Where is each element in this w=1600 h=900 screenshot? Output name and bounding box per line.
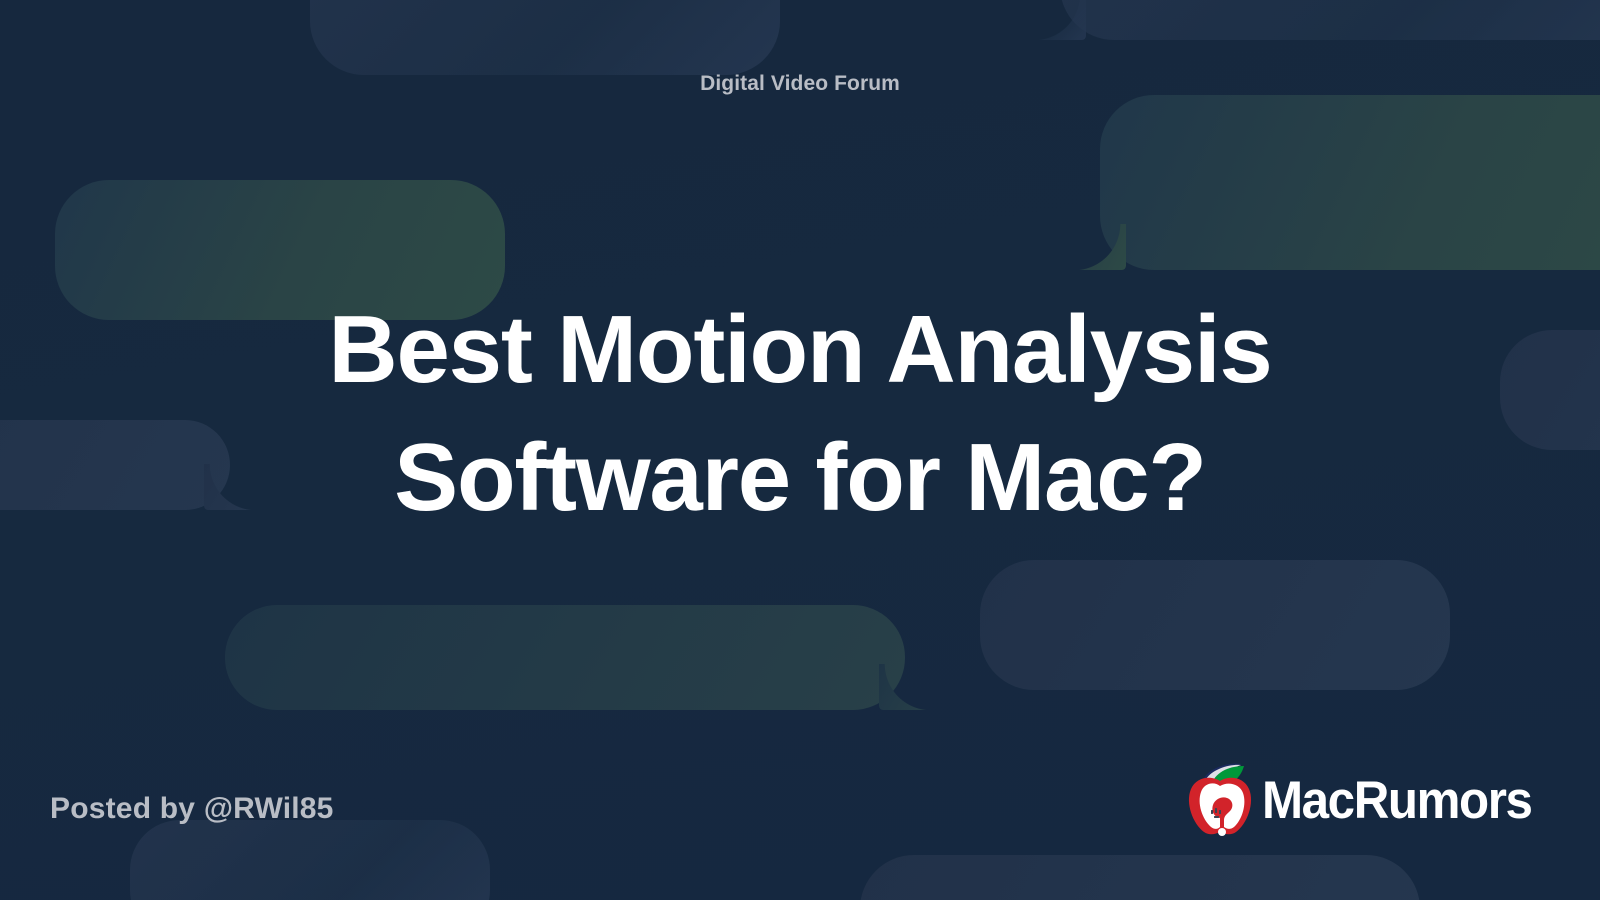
page-title: Best Motion Analysis Software for Mac? [0,286,1600,541]
chat-bubble-shape [980,560,1450,690]
brand-wordmark: MacRumors [1262,774,1532,827]
posted-by-label: Posted by @RWil85 [50,792,334,826]
thread-title: Best Motion Analysis Software for Mac? [150,286,1450,541]
chat-bubble-shape [130,820,490,900]
chat-bubble-shape [1100,95,1600,270]
brand-logo: MacRumors [1184,762,1552,838]
macrumors-apple-logo-icon [1184,762,1256,838]
forum-share-card: Digital Video Forum Best Motion Analysis… [0,0,1600,900]
chat-bubble-shape [1060,0,1600,40]
chat-bubble-shape [310,0,780,75]
chat-bubble-shape [225,605,905,710]
forum-name-label: Digital Video Forum [0,72,1600,96]
chat-bubble-shape [860,855,1420,900]
